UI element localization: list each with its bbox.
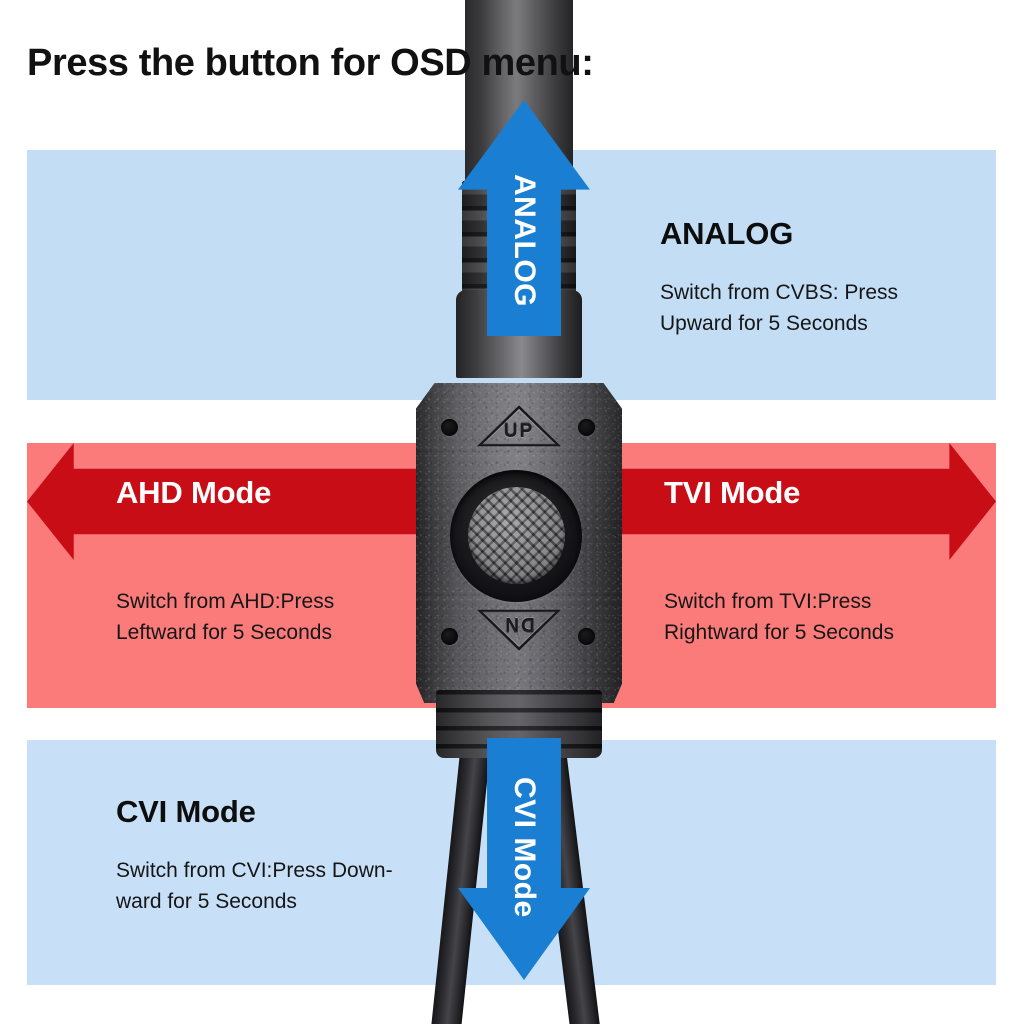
screw-hole-bottom-right — [578, 628, 595, 645]
up-mark-label: UP — [477, 421, 561, 443]
up-triangle-icon: UP — [477, 404, 561, 448]
down-arrow-label: CVI Mode — [509, 777, 539, 909]
up-arrow-label: ANALOG — [509, 174, 539, 306]
ahd-description: Switch from AHD:Press Leftward for 5 Sec… — [116, 586, 334, 648]
tvi-heading: TVI Mode — [664, 475, 800, 511]
page-title: Press the button for OSD menu: — [27, 42, 593, 85]
joystick-button[interactable] — [468, 487, 565, 584]
analog-description: Switch from CVBS: Press Upward for 5 Sec… — [660, 277, 898, 339]
cvi-heading: CVI Mode — [116, 794, 256, 830]
joystick-bezel[interactable] — [450, 470, 582, 602]
tvi-description: Switch from TVI:Press Rightward for 5 Se… — [664, 586, 894, 648]
screw-hole-top-left — [441, 419, 458, 436]
screw-hole-top-right — [578, 419, 595, 436]
ahd-heading: AHD Mode — [116, 475, 271, 511]
osd-menu-infographic: UP DN ANALOG CVI Mode Press the button f… — [0, 0, 1024, 1024]
down-triangle-icon: DN — [477, 608, 561, 652]
dn-mark-label: DN — [477, 612, 561, 634]
analog-heading: ANALOG — [660, 216, 793, 252]
cvi-description: Switch from CVI:Press Down- ward for 5 S… — [116, 855, 393, 917]
screw-hole-bottom-left — [441, 628, 458, 645]
